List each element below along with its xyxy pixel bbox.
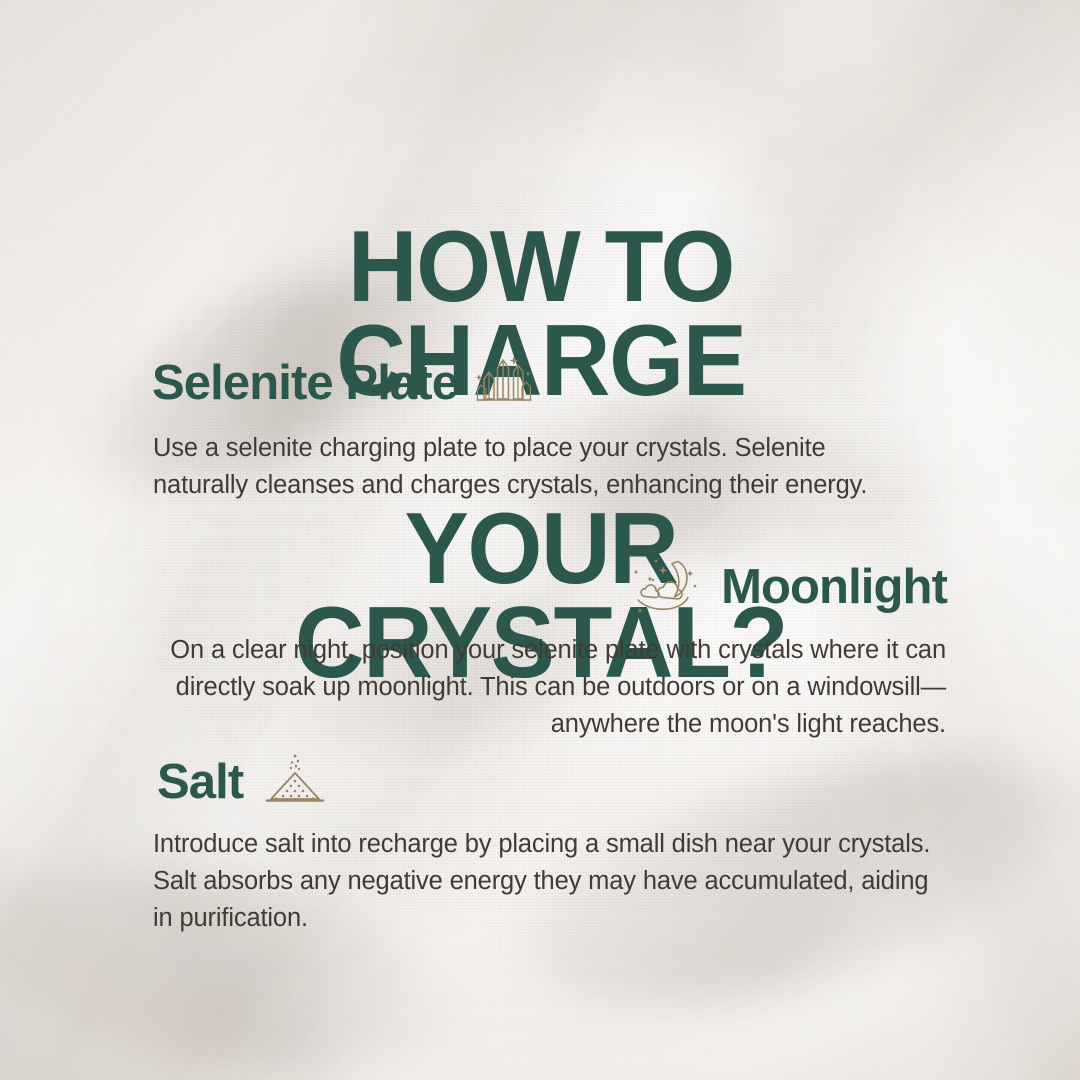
section-body-selenite-plate: Use a selenite charging plate to place y… — [0, 430, 1080, 504]
salt-pile-icon — [261, 754, 329, 808]
section-heading-label: Salt — [157, 758, 243, 807]
section-heading-moonlight: Moonlight — [0, 556, 1080, 618]
section-moonlight: Moonlight On a clear night, position you… — [0, 556, 1080, 743]
crystal-cluster-icon — [472, 352, 534, 408]
section-body-salt: Introduce salt into recharge by placing … — [0, 826, 1080, 937]
section-salt: Salt — [0, 754, 1080, 937]
section-heading-selenite-plate: Selenite Plate — [0, 352, 1080, 414]
section-heading-label: Selenite Plate — [152, 359, 458, 408]
section-selenite-plate: Selenite Plate — [0, 352, 1080, 504]
infographic-poster: HOW TO CHARGE YOUR CRYSTAL? Selenite Pla… — [0, 0, 1080, 1080]
crescent-moon-clouds-icon — [627, 556, 701, 614]
section-heading-label: Moonlight — [721, 563, 947, 612]
section-body-moonlight: On a clear night, position your selenite… — [0, 632, 1080, 743]
section-heading-salt: Salt — [0, 754, 1080, 810]
